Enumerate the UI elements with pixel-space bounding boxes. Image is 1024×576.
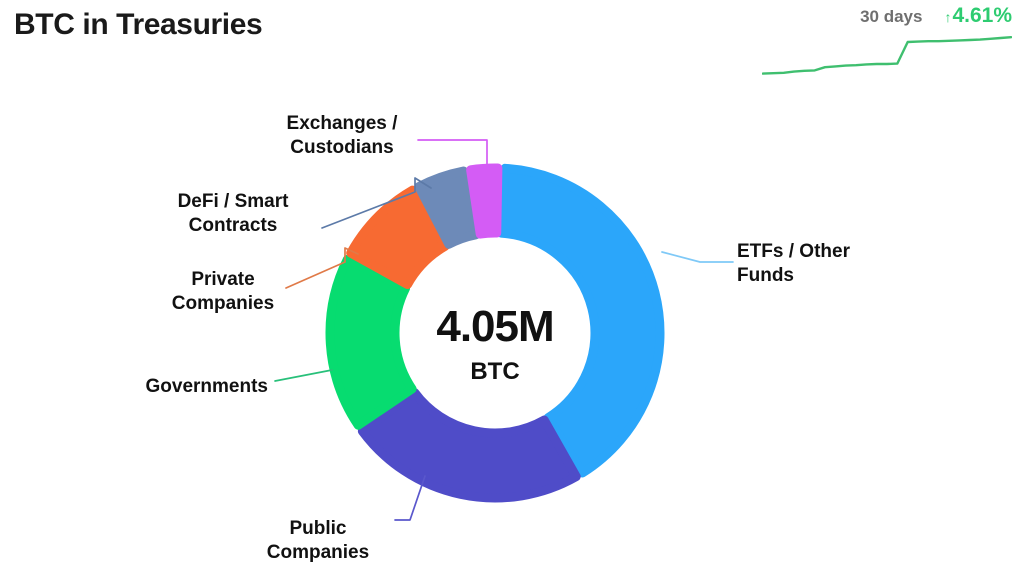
slice-label-private: Private Companies: [128, 268, 318, 317]
donut-slice-exchanges[interactable]: [471, 168, 498, 234]
leader-line-governments: [275, 370, 332, 381]
slice-label-governments: Governments: [98, 375, 268, 399]
donut-slice-public[interactable]: [362, 392, 576, 498]
slice-label-defi: DeFi / Smart Contracts: [148, 190, 318, 239]
leader-line-etfs: [662, 252, 733, 262]
slice-label-etfs: ETFs / Other Funds: [737, 240, 927, 289]
slice-label-exchanges: Exchanges / Custodians: [262, 112, 422, 161]
slice-label-public: Public Companies: [228, 517, 408, 566]
donut-center-unit: BTC: [395, 358, 595, 386]
donut-center-value: 4.05M: [395, 302, 595, 352]
